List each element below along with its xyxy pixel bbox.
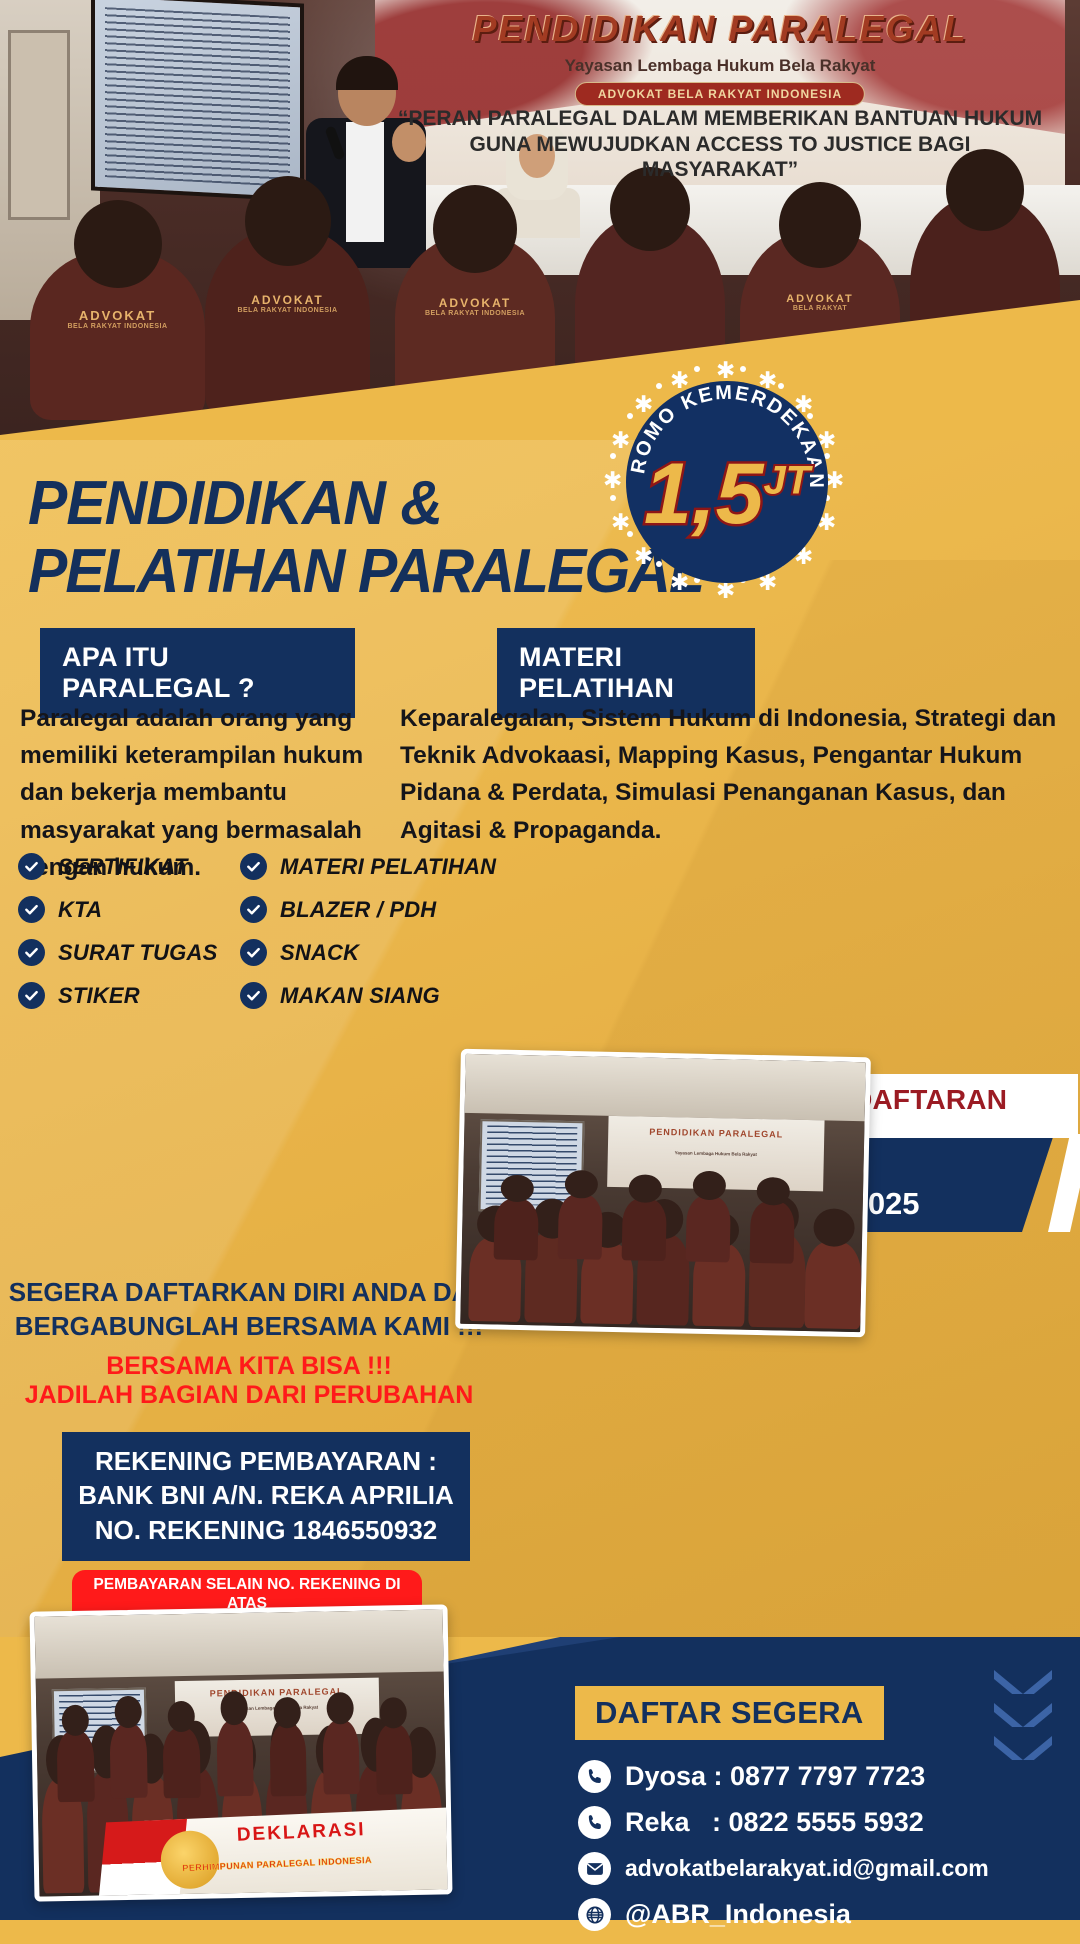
bank-title: REKENING PEMBAYARAN : xyxy=(68,1444,464,1478)
backdrop-org-pill: ADVOKAT BELA RAKYAT INDONESIA xyxy=(575,82,865,106)
mail-icon xyxy=(578,1852,611,1885)
section-body-materi-pelatihan: Keparalegalan, Sistem Hukum di Indonesia… xyxy=(400,700,1060,849)
benefit-item: SURAT TUGAS xyxy=(18,939,240,966)
benefits-row: STIKER MAKAN SIANG xyxy=(18,974,538,1017)
page-title-line2: PELATIHAN PARALEGAL xyxy=(28,538,703,606)
chevron-down-icon xyxy=(994,1670,1052,1694)
benefits-list: SERTIFIKAT MATERI PELATIHAN KTA BLAZER /… xyxy=(18,845,538,1017)
contact-item[interactable]: advokatbelarakyat.id@gmail.com xyxy=(578,1852,989,1885)
check-circle-icon xyxy=(18,939,45,966)
cta-line-3: BERSAMA KITA BISA !!! xyxy=(0,1352,498,1381)
bank-account-number: NO. REKENING 1846550932 xyxy=(68,1513,464,1547)
contact-list: Dyosa : 0877 7797 7723 Reka : 0822 5555 … xyxy=(578,1760,989,1944)
seal-price: 1,5JT xyxy=(608,451,846,537)
seal-price-unit: JT xyxy=(763,458,810,502)
cta-line-4: JADILAH BAGIAN DARI PERUBAHAN xyxy=(0,1381,498,1410)
photo-backdrop-title: PENDIDIKAN PARALEGAL xyxy=(608,1126,824,1141)
photo-ceiling xyxy=(465,1054,866,1122)
daftar-segera-button[interactable]: DAFTAR SEGERA xyxy=(575,1686,884,1740)
photo-ceiling xyxy=(35,1609,444,1678)
page-title: PENDIDIKAN & PELATIHAN PARALEGAL xyxy=(28,470,703,606)
contact-item[interactable]: @ABR_Indonesia xyxy=(578,1898,989,1931)
chevron-down-icon xyxy=(994,1703,1052,1727)
hero-photo-banner: PENDIDIKAN PARALEGAL Yayasan Lembaga Huk… xyxy=(0,0,1080,470)
audience-member: ADVOKATBELA RAKYAT INDONESIA xyxy=(205,228,370,418)
projector-screen xyxy=(95,0,300,197)
benefit-label: SERTIFIKAT xyxy=(58,854,188,880)
backdrop-quote: “PERAN PARALEGAL DALAM MEMBERIKAN BANTUA… xyxy=(391,106,1049,183)
check-circle-icon xyxy=(18,982,45,1009)
benefits-row: KTA BLAZER / PDH xyxy=(18,888,538,931)
deklarasi-banner: DEKLARASI PERHIMPUNAN PARALEGAL INDONESI… xyxy=(143,1807,452,1902)
benefits-row: SERTIFIKAT MATERI PELATIHAN xyxy=(18,845,538,888)
seminar-photo-right: PENDIDIKAN PARALEGAL Yayasan Lembaga Huk… xyxy=(455,1049,871,1338)
group-photo-left: PENDIDIKAN PARALEGAL Yayasan Lembaga Huk… xyxy=(30,1604,453,1901)
promo-seal: ✱ ✱ ✱ ✱ ✱ ✱ ✱ ✱ ✱ ✱ ✱ ✱ ✱ ✱ ✱ ✱ PROMO KE… xyxy=(608,363,846,601)
benefit-label: BLAZER / PDH xyxy=(280,897,436,923)
seal-price-value: 1,5 xyxy=(644,446,764,542)
benefit-label: MATERI PELATIHAN xyxy=(280,854,496,880)
bank-name-holder: BANK BNI A/N. REKA APRILIA xyxy=(68,1478,464,1512)
check-circle-icon xyxy=(240,939,267,966)
benefit-item: STIKER xyxy=(18,982,240,1009)
contact-text: advokatbelarakyat.id@gmail.com xyxy=(625,1855,989,1882)
benefit-label: MAKAN SIANG xyxy=(280,983,440,1009)
cta-line-2: BERGABUNGLAH BERSAMA KAMI !!! xyxy=(0,1310,498,1344)
benefit-label: SURAT TUGAS xyxy=(58,940,217,966)
contact-item[interactable]: Dyosa : 0877 7797 7723 xyxy=(578,1760,989,1793)
bank-account-box: REKENING PEMBAYARAN : BANK BNI A/N. REKA… xyxy=(62,1432,470,1561)
benefit-label: KTA xyxy=(58,897,102,923)
benefits-row: SURAT TUGAS SNACK xyxy=(18,931,538,974)
contact-text: Dyosa : 0877 7797 7723 xyxy=(625,1761,925,1792)
cta-line-1: SEGERA DAFTARKAN DIRI ANDA DAN xyxy=(0,1276,498,1310)
phone-icon xyxy=(578,1760,611,1793)
stage-backdrop-banner: PENDIDIKAN PARALEGAL Yayasan Lembaga Huk… xyxy=(375,0,1065,194)
chevron-down-icon xyxy=(994,1736,1052,1760)
check-circle-icon xyxy=(240,853,267,880)
backdrop-title: PENDIDIKAN PARALEGAL xyxy=(375,8,1065,50)
benefit-item: BLAZER / PDH xyxy=(240,896,436,923)
page-title-line1: PENDIDIKAN & xyxy=(28,470,703,538)
benefit-item: MATERI PELATIHAN xyxy=(240,853,496,880)
benefit-item: MAKAN SIANG xyxy=(240,982,440,1009)
contact-text: @ABR_Indonesia xyxy=(625,1899,851,1930)
call-to-action: SEGERA DAFTARKAN DIRI ANDA DAN BERGABUNG… xyxy=(0,1276,498,1410)
phone-icon xyxy=(578,1806,611,1839)
benefit-item: SERTIFIKAT xyxy=(18,853,240,880)
contact-text: Reka : 0822 5555 5932 xyxy=(625,1807,924,1838)
benefit-item: SNACK xyxy=(240,939,359,966)
benefit-item: KTA xyxy=(18,896,240,923)
benefit-label: STIKER xyxy=(58,983,140,1009)
slide-text-lines xyxy=(105,7,290,187)
globe-icon xyxy=(578,1898,611,1931)
footer-chevron-group xyxy=(994,1670,1064,1769)
benefit-label: SNACK xyxy=(280,940,359,966)
door xyxy=(8,30,70,220)
check-circle-icon xyxy=(240,896,267,923)
contact-item[interactable]: Reka : 0822 5555 5932 xyxy=(578,1806,989,1839)
check-circle-icon xyxy=(18,896,45,923)
deklarasi-title: DEKLARASI xyxy=(236,1819,366,1847)
photo-audience xyxy=(460,1183,863,1332)
check-circle-icon xyxy=(240,982,267,1009)
backdrop-subtitle: Yayasan Lembaga Hukum Bela Rakyat xyxy=(375,56,1065,76)
audience-member: ADVOKATBELA RAKYAT INDONESIA xyxy=(30,250,205,420)
check-circle-icon xyxy=(18,853,45,880)
photo-backdrop-sub: Yayasan Lembaga Hukum Bela Rakyat xyxy=(608,1149,824,1159)
